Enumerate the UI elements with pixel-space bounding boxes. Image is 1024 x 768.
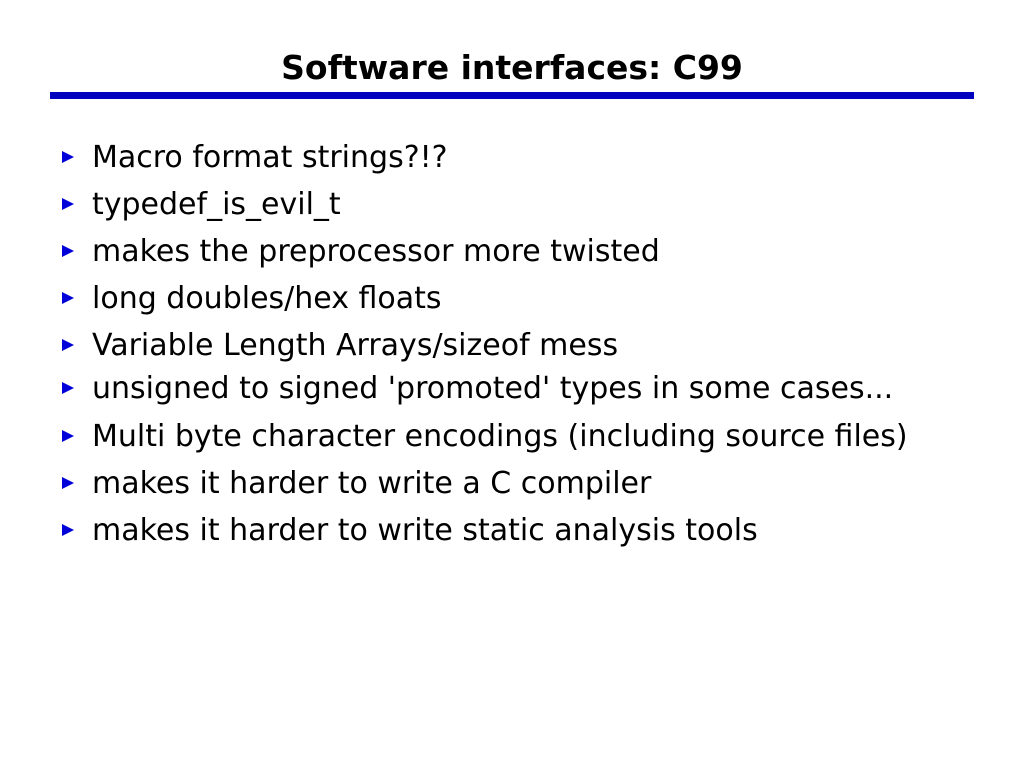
list-item-label: Multi byte character encodings (includin… <box>92 413 987 460</box>
slide: Software interfaces: C99 Macro format st… <box>0 0 1024 768</box>
triangle-right-icon <box>60 460 84 507</box>
triangle-right-icon <box>60 134 84 181</box>
triangle-right-icon <box>60 413 84 460</box>
list-item: Variable Length Arrays/sizeof mess <box>57 322 987 369</box>
list-item: makes the preprocessor more twisted <box>57 228 987 275</box>
list-item: typedef_is_evil_t <box>57 181 987 228</box>
list-item: unsigned to signed 'promoted' types in s… <box>57 369 987 413</box>
bullet-list: Macro format strings?!? typedef_is_evil_… <box>57 134 987 554</box>
list-item-label: makes it harder to write static analysis… <box>92 507 987 554</box>
list-item-label: Macro format strings?!? <box>92 134 987 181</box>
list-item-label: unsigned to signed 'promoted' types in s… <box>92 369 987 409</box>
triangle-right-icon <box>60 228 84 275</box>
list-item-label: Variable Length Arrays/sizeof mess <box>92 322 987 369</box>
title-underline-rule <box>50 92 974 99</box>
page-title: Software interfaces: C99 <box>0 49 1024 87</box>
list-item-label: typedef_is_evil_t <box>92 181 987 228</box>
list-item-label: makes the preprocessor more twisted <box>92 228 987 275</box>
list-item: Macro format strings?!? <box>57 134 987 181</box>
list-item: makes it harder to write static analysis… <box>57 507 987 554</box>
triangle-right-icon <box>60 322 84 369</box>
triangle-right-icon <box>60 181 84 228</box>
list-item-label: long doubles/hex floats <box>92 275 987 322</box>
list-item: long doubles/hex floats <box>57 275 987 322</box>
triangle-right-icon <box>60 275 84 322</box>
list-item: makes it harder to write a C compiler <box>57 460 987 507</box>
triangle-right-icon <box>60 369 84 409</box>
triangle-right-icon <box>60 507 84 554</box>
list-item-label: makes it harder to write a C compiler <box>92 460 987 507</box>
list-item: Multi byte character encodings (includin… <box>57 413 987 460</box>
